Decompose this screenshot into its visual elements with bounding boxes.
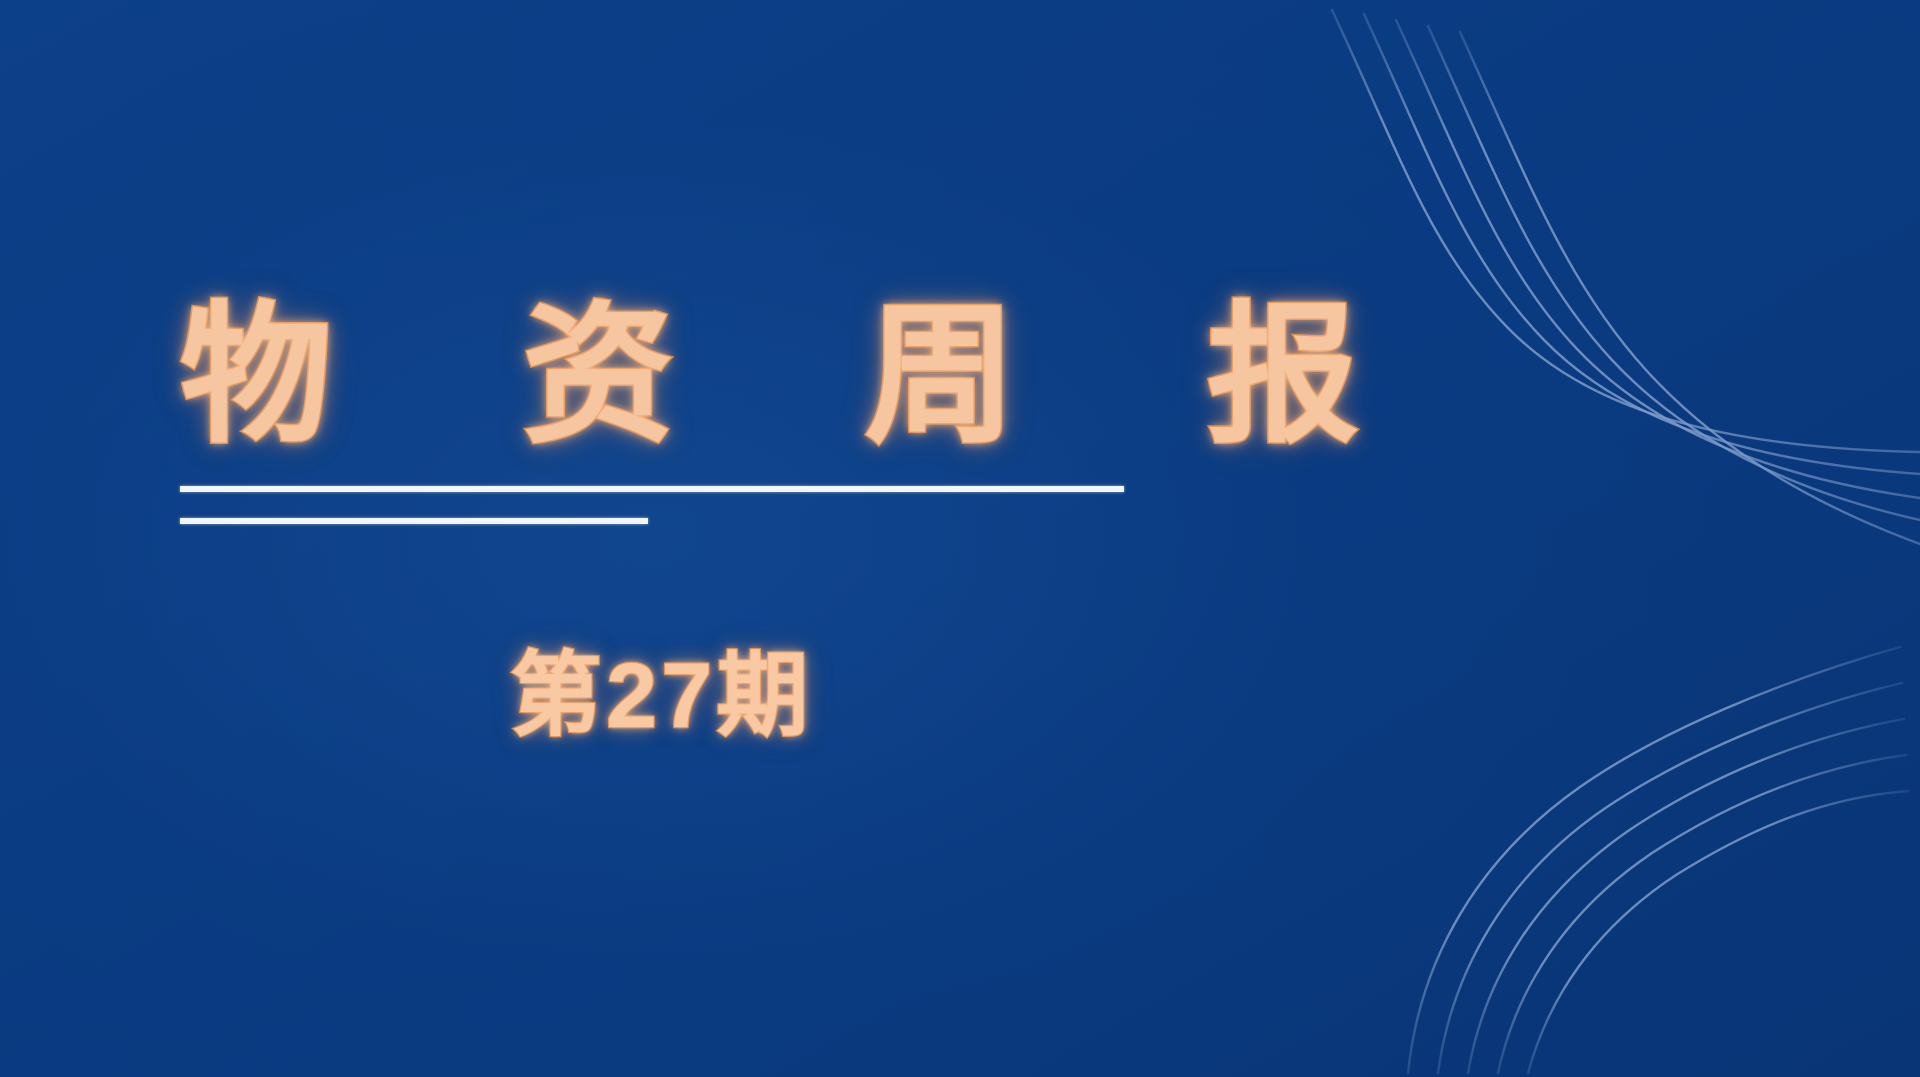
title-underline-short xyxy=(180,518,648,524)
wave-lines-top-right-icon xyxy=(1280,0,1920,560)
page-title: 物 资 周 报 xyxy=(180,288,1180,464)
wave-lines-bottom-right-icon xyxy=(1280,607,1920,1077)
page-subtitle: 第27期 xyxy=(510,645,812,748)
title-block: 物 资 周 报 xyxy=(180,288,1180,524)
background-gradient xyxy=(0,0,1920,1077)
title-underline-long xyxy=(180,486,1124,492)
title-slide: 物 资 周 报 第27期 xyxy=(0,0,1920,1077)
title-underlines xyxy=(180,486,1180,524)
